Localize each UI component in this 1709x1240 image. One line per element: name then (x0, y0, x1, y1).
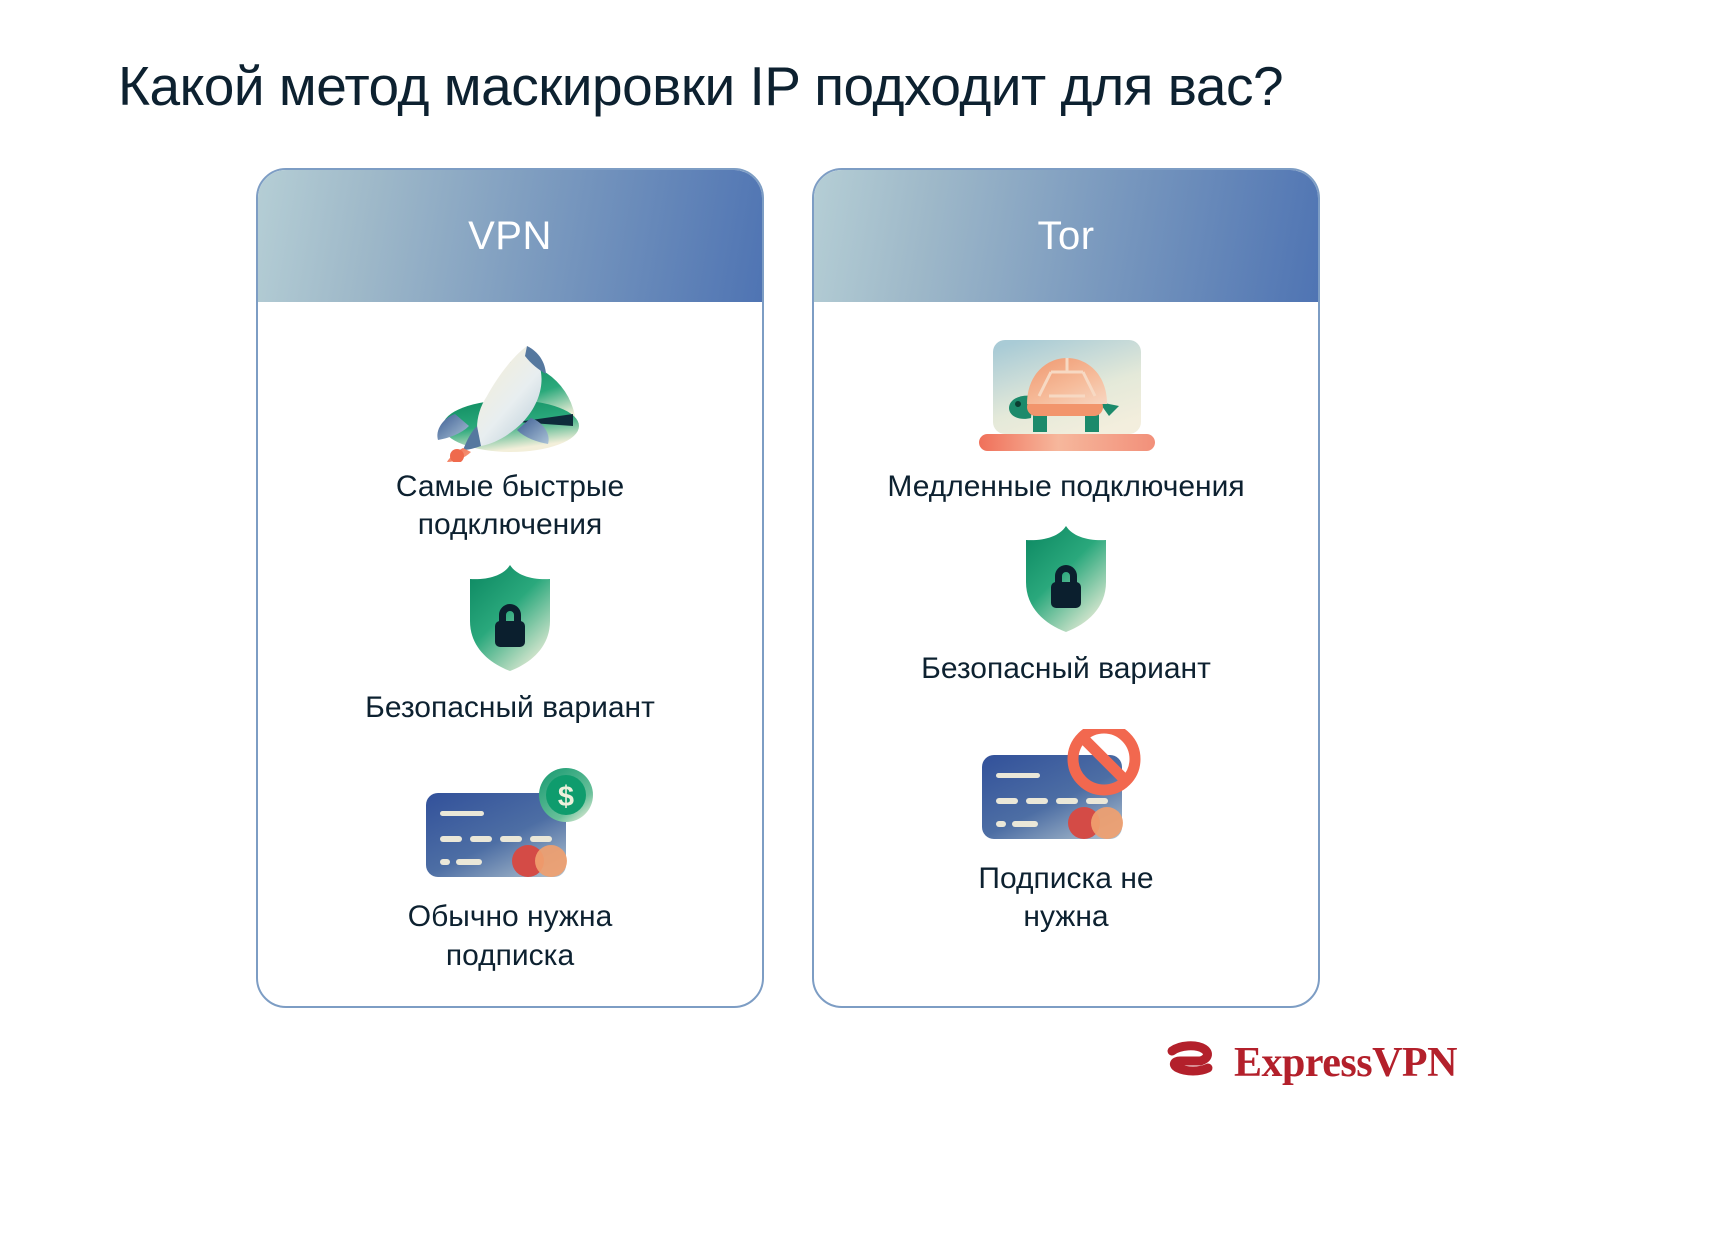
credit-card-prohibited-icon (976, 729, 1156, 844)
card-tor-feature-subscription-label: Подписка не нужна (978, 860, 1153, 937)
expressvpn-logo-mark (1162, 1032, 1220, 1095)
card-tor-feature-speed-label: Медленные подключения (887, 468, 1244, 506)
expressvpn-logo-text: ExpressVPN (1234, 1042, 1457, 1084)
card-vpn-feature-speed: Самые быстрые подключения (258, 322, 762, 545)
infographic-page: Какой метод маскировки IP подходит для в… (0, 0, 1709, 1240)
page-title: Какой метод маскировки IP подходит для в… (118, 57, 1598, 116)
card-vpn: VPN (256, 168, 764, 1008)
shield-lock-icon (1015, 524, 1117, 634)
card-tor: Tor (812, 168, 1320, 1008)
expressvpn-logo: ExpressVPN (1162, 1032, 1462, 1094)
card-vpn-header-title: VPN (468, 214, 552, 259)
card-tor-feature-security-label: Безопасный вариант (921, 650, 1211, 688)
card-tor-feature-speed: Медленные подключения (814, 322, 1318, 506)
card-vpn-feature-security: Безопасный вариант (258, 563, 762, 727)
card-tor-body: Медленные подключения (814, 302, 1318, 1006)
card-tor-feature-security: Безопасный вариант (814, 524, 1318, 688)
shield-lock-icon (459, 563, 561, 673)
card-vpn-feature-subscription: $ Обычно нужна подписка (258, 767, 762, 975)
card-vpn-feature-subscription-label: Обычно нужна подписка (408, 898, 613, 975)
card-tor-header: Tor (814, 170, 1318, 302)
card-tor-feature-subscription: Подписка не нужна (814, 729, 1318, 937)
svg-text:$: $ (558, 781, 574, 813)
laptop-turtle-icon (961, 322, 1171, 462)
rocket-speedometer-icon (405, 322, 615, 462)
credit-card-dollar-icon: $ (420, 767, 600, 882)
card-vpn-feature-security-label: Безопасный вариант (365, 689, 655, 727)
card-tor-header-title: Tor (1037, 214, 1094, 259)
card-vpn-feature-speed-label: Самые быстрые подключения (396, 468, 624, 545)
card-vpn-body: Самые быстрые подключения (258, 302, 762, 1006)
comparison-cards: VPN (0, 168, 1709, 1008)
card-vpn-header: VPN (258, 170, 762, 302)
